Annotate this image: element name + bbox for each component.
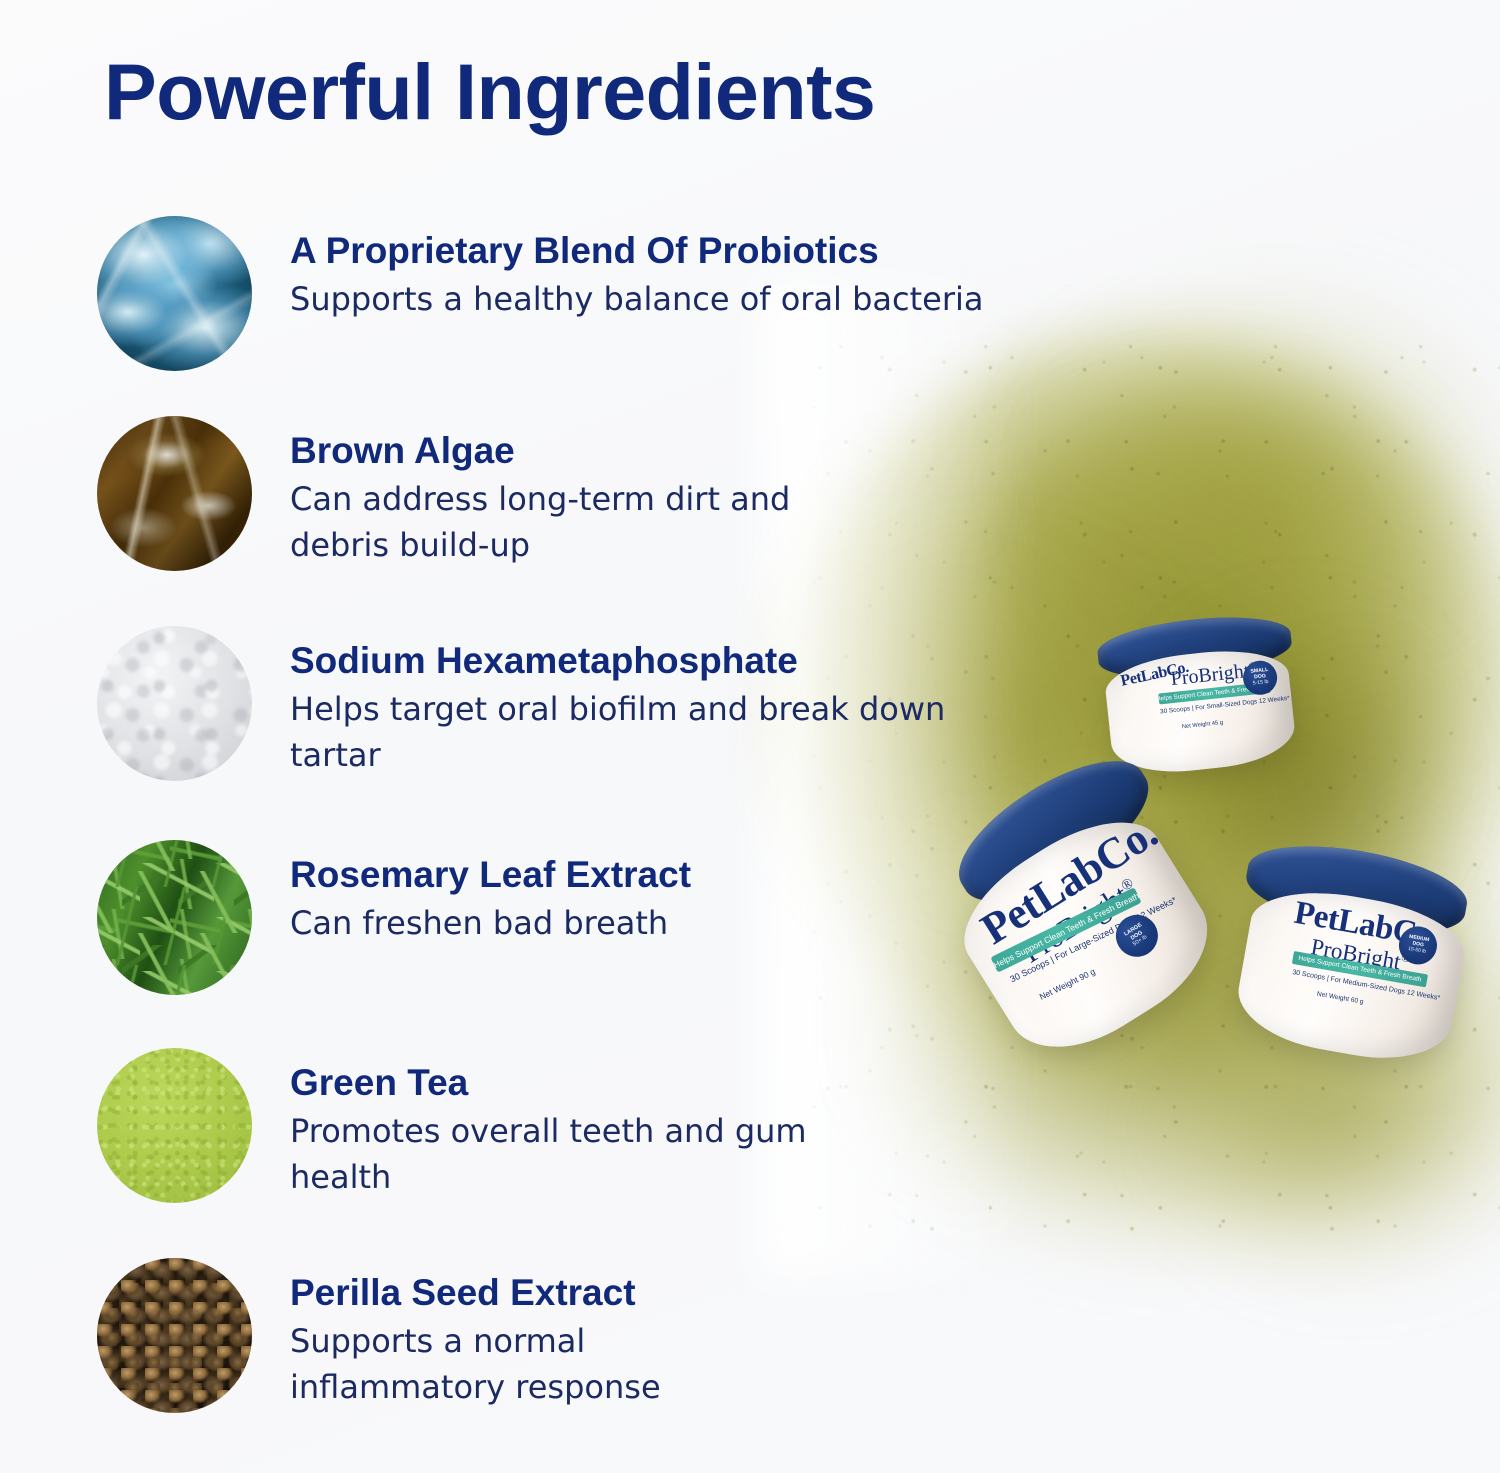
- ingredient-text-rosemary-leaf-extract: Rosemary Leaf Extract Can freshen bad br…: [290, 840, 691, 947]
- ingredient-item-green-tea: Green Tea Promotes overall teeth and gum…: [97, 1048, 820, 1203]
- ingredient-description: Can freshen bad breath: [290, 901, 691, 946]
- ingredient-description: Promotes overall teeth and gum health: [290, 1109, 820, 1200]
- ingredient-item-rosemary-leaf-extract: Rosemary Leaf Extract Can freshen bad br…: [97, 840, 691, 995]
- badge-weight-range: 5-15 lb: [1253, 680, 1269, 688]
- product-jar-large[interactable]: PetLabCo. ProBright® Helps Support Clean…: [905, 734, 1259, 1090]
- white-powder-icon: [97, 626, 252, 781]
- net-weight: Net Weight 45 g: [1182, 720, 1224, 730]
- ingredient-item-perilla-seed-extract: Perilla Seed Extract Supports a normal i…: [97, 1258, 740, 1413]
- ingredient-text-sodium-hexametaphosphate: Sodium Hexametaphosphate Helps target or…: [290, 626, 980, 778]
- brown-algae-icon: [97, 416, 252, 571]
- ingredient-description: Can address long-term dirt and debris bu…: [290, 477, 850, 568]
- ingredient-name: A Proprietary Blend Of Probiotics: [290, 230, 984, 271]
- ingredient-description: Helps target oral biofilm and break down…: [290, 687, 980, 778]
- ingredient-text-green-tea: Green Tea Promotes overall teeth and gum…: [290, 1048, 820, 1200]
- ingredient-text-probiotics: A Proprietary Blend Of Probiotics Suppor…: [290, 216, 984, 323]
- perilla-seeds-icon: [97, 1258, 252, 1413]
- badge-weight-range: 15-50 lb: [1408, 947, 1427, 956]
- net-weight: Net Weight 60 g: [1316, 991, 1364, 1006]
- ingredient-item-sodium-hexametaphosphate: Sodium Hexametaphosphate Helps target or…: [97, 626, 980, 781]
- ingredient-name: Brown Algae: [290, 430, 850, 471]
- ingredient-description: Supports a normal inflammatory response: [290, 1319, 740, 1410]
- ingredient-item-probiotics: A Proprietary Blend Of Probiotics Suppor…: [97, 216, 984, 371]
- ingredient-name: Sodium Hexametaphosphate: [290, 640, 980, 681]
- ingredient-name: Perilla Seed Extract: [290, 1272, 740, 1313]
- header: Powerful Ingredients: [104, 52, 875, 133]
- ingredient-item-brown-algae: Brown Algae Can address long-term dirt a…: [97, 416, 850, 571]
- green-tea-powder-icon: [97, 1048, 252, 1203]
- jar-label-medium: PetLabCo. ProBright® Helps Support Clean…: [1216, 832, 1499, 1082]
- ingredient-text-perilla-seed-extract: Perilla Seed Extract Supports a normal i…: [290, 1258, 740, 1410]
- powder-cloud-upper: [1050, 300, 1500, 630]
- ingredient-name: Green Tea: [290, 1062, 820, 1103]
- product-jar-medium[interactable]: PetLabCo. ProBright® Helps Support Clean…: [1216, 832, 1499, 1082]
- page-title: Powerful Ingredients: [104, 52, 875, 133]
- ingredient-text-brown-algae: Brown Algae Can address long-term dirt a…: [290, 416, 850, 568]
- net-weight: Net Weight 90 g: [1038, 966, 1097, 1002]
- rosemary-sprig-icon: [97, 840, 252, 995]
- ingredient-description: Supports a healthy balance of oral bacte…: [290, 277, 984, 322]
- jar-label-large: PetLabCo. ProBright® Helps Support Clean…: [905, 734, 1259, 1090]
- powerful-ingredients-infographic: Powerful Ingredients A Proprietary Blend…: [0, 0, 1500, 1473]
- ingredient-name: Rosemary Leaf Extract: [290, 854, 691, 895]
- bacteria-icon: [97, 216, 252, 371]
